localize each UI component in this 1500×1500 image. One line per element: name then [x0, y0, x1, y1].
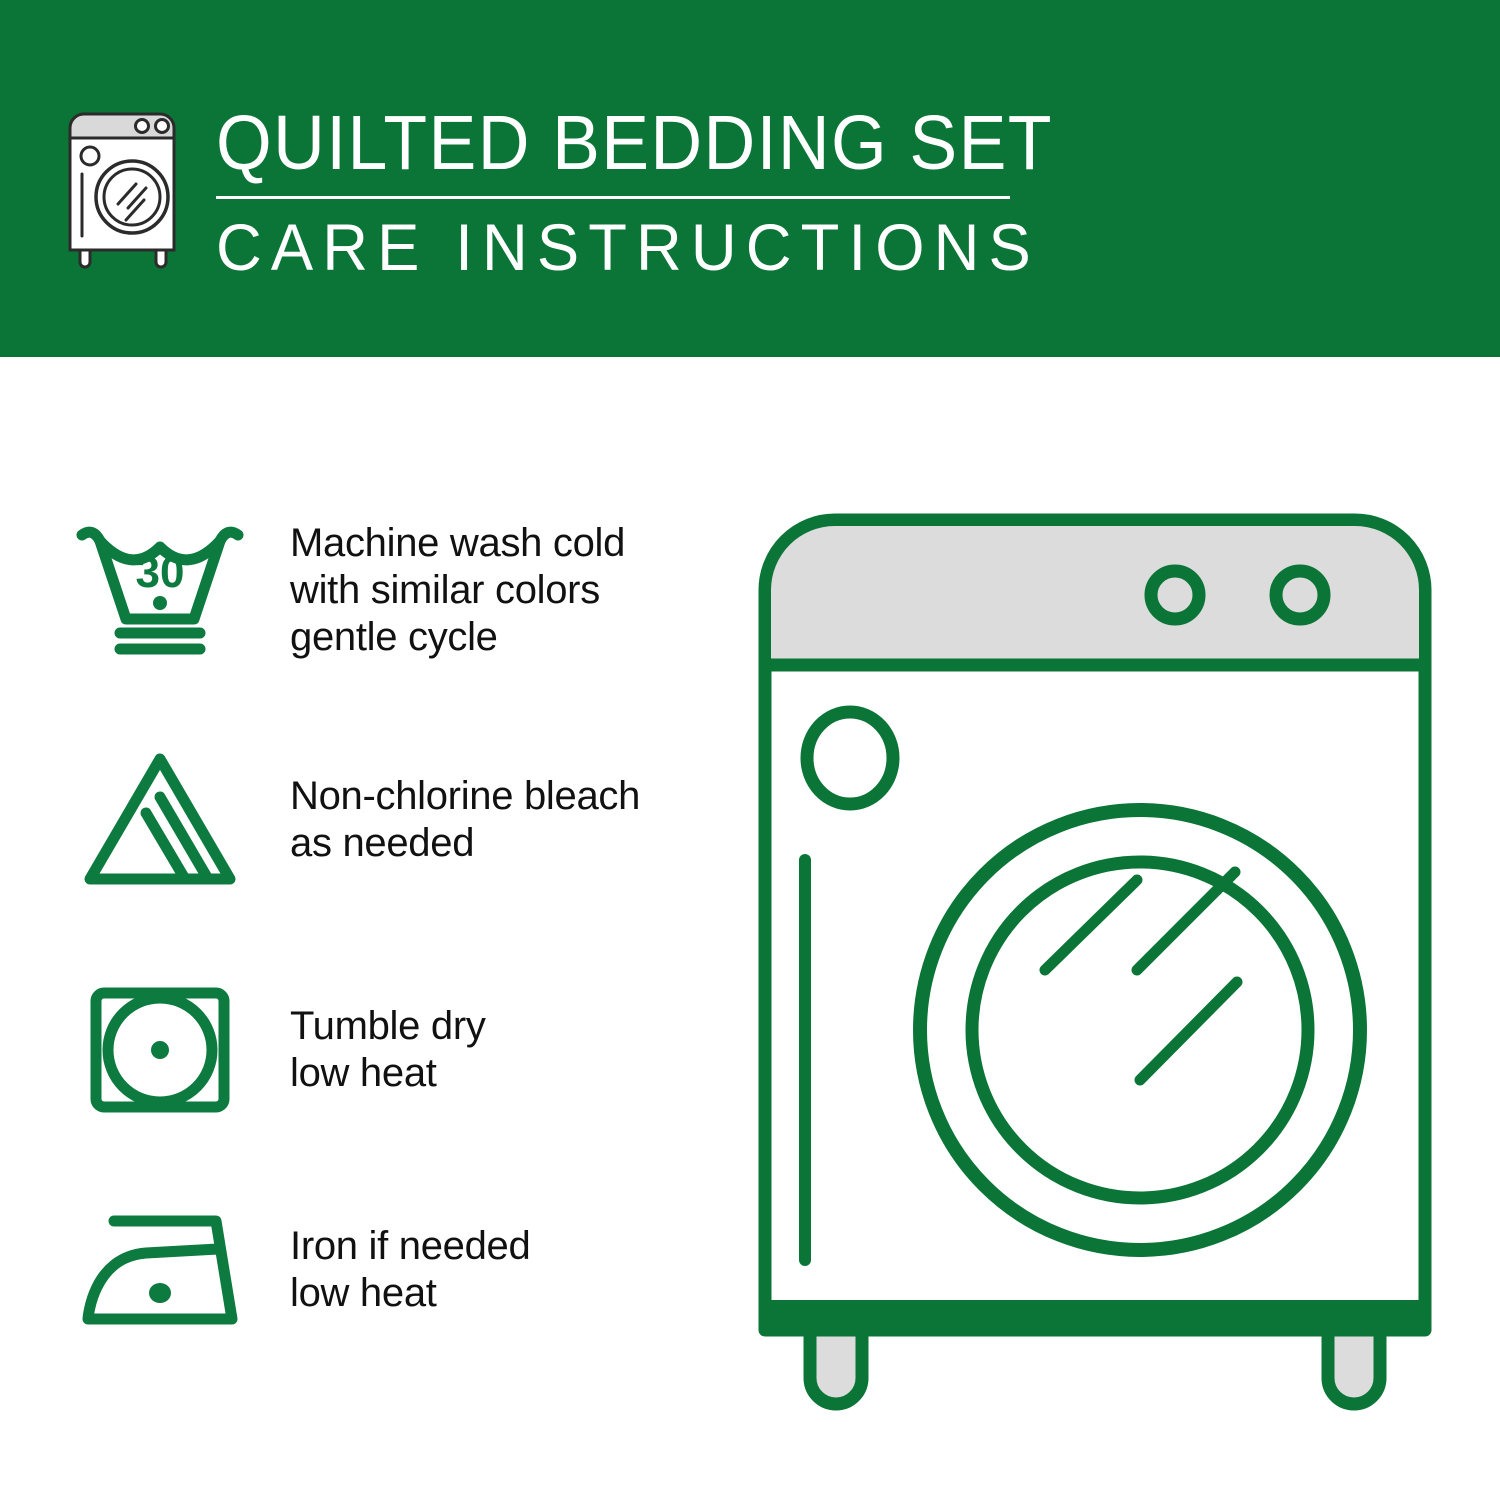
care-text-line: Iron if needed	[290, 1223, 530, 1270]
leg-left	[810, 1330, 862, 1404]
non-chlorine-bleach-triangle-icon	[60, 735, 260, 905]
washing-machine-icon	[62, 104, 194, 274]
care-text-line: as needed	[290, 820, 640, 867]
care-text-line: low heat	[290, 1050, 486, 1097]
page-subtitle: CARE INSTRUCTIONS	[216, 211, 984, 283]
tumble-dry-low-icon	[60, 965, 260, 1135]
header-divider	[216, 196, 1010, 199]
header-band: QUILTED BEDDING SET CARE INSTRUCTIONS	[0, 0, 1500, 357]
wash-tub-30-gentle-icon: 30	[60, 505, 260, 675]
wash-temperature-label: 30	[136, 548, 185, 597]
leg-right	[1328, 1330, 1380, 1404]
care-text-line: low heat	[290, 1270, 530, 1317]
care-instruction-item: Non-chlorine bleach as needed	[0, 735, 740, 905]
care-text-line: gentle cycle	[290, 614, 625, 661]
care-text-line: Non-chlorine bleach	[290, 773, 640, 820]
care-instruction-text: Iron if needed low heat	[260, 1223, 530, 1317]
care-text-line: Machine wash cold	[290, 520, 625, 567]
care-instruction-text: Non-chlorine bleach as needed	[260, 773, 640, 867]
care-instruction-item: Tumble dry low heat	[0, 965, 740, 1135]
care-instruction-item: Iron if needed low heat	[0, 1185, 740, 1355]
care-text-line: Tumble dry	[290, 1003, 486, 1050]
care-instruction-item: 30 Machine wash cold with similar colors…	[0, 505, 740, 675]
page-title: QUILTED BEDDING SET	[216, 100, 960, 186]
care-instruction-list: 30 Machine wash cold with similar colors…	[0, 357, 740, 1500]
care-instruction-text: Tumble dry low heat	[260, 1003, 486, 1097]
header-text-block: QUILTED BEDDING SET CARE INSTRUCTIONS	[216, 100, 1016, 283]
care-text-line: with similar colors	[290, 567, 625, 614]
care-instruction-text: Machine wash cold with similar colors ge…	[260, 520, 625, 661]
washing-machine-illustration	[745, 500, 1445, 1430]
iron-low-heat-icon	[60, 1185, 260, 1355]
care-instructions-page: QUILTED BEDDING SET CARE INSTRUCTIONS 30	[0, 0, 1500, 1500]
